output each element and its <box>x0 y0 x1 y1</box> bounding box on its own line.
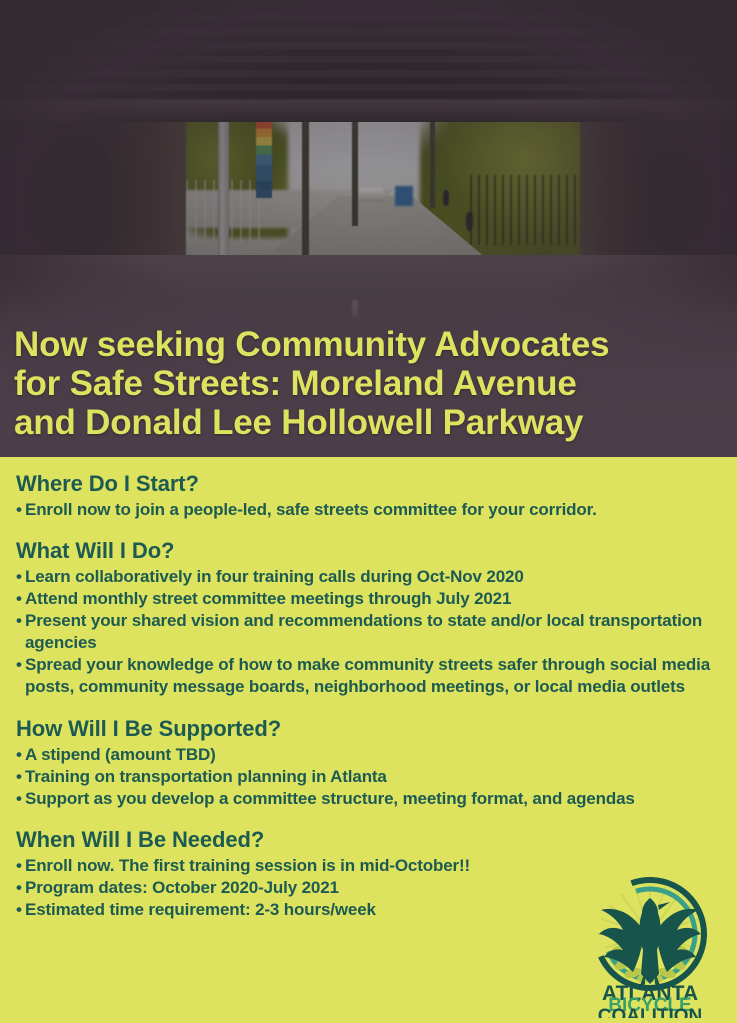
list-item: Present your shared vision and recommend… <box>16 610 716 654</box>
list-item: Learn collaboratively in four training c… <box>16 566 716 588</box>
list-item: Support as you develop a committee struc… <box>16 788 716 810</box>
section-heading: When Will I Be Needed? <box>16 827 716 853</box>
list-item: Attend monthly street committee meetings… <box>16 588 716 610</box>
headline-line-3: and Donald Lee Hollowell Parkway <box>14 404 727 443</box>
headline-line-2: for Safe Streets: Moreland Avenue <box>14 365 727 404</box>
section-heading: How Will I Be Supported? <box>16 716 716 742</box>
headline-line-1: Now seeking Community Advocates <box>14 326 727 365</box>
section-bullet-list: Enroll now to join a people-led, safe st… <box>16 499 716 521</box>
list-item: A stipend (amount TBD) <box>16 744 716 766</box>
list-item: Spread your knowledge of how to make com… <box>16 654 716 698</box>
hero-photo-section: Now seeking Community Advocates for Safe… <box>0 0 737 457</box>
poster-headline: Now seeking Community Advocates for Safe… <box>14 326 727 443</box>
list-item: Enroll now to join a people-led, safe st… <box>16 499 716 521</box>
poster-content: Where Do I Start? Enroll now to join a p… <box>16 471 716 921</box>
section-bullet-list: Learn collaboratively in four training c… <box>16 566 716 699</box>
section-how-will-i-be-supported: How Will I Be Supported? A stipend (amou… <box>16 716 716 810</box>
list-item: Training on transportation planning in A… <box>16 766 716 788</box>
section-heading: What Will I Do? <box>16 538 716 564</box>
logo-text-coalition: COALITION <box>598 1006 703 1018</box>
section-bullet-list: A stipend (amount TBD) Training on trans… <box>16 744 716 810</box>
section-heading: Where Do I Start? <box>16 471 716 497</box>
section-what-will-i-do: What Will I Do? Learn collaboratively in… <box>16 538 716 699</box>
section-where-do-i-start: Where Do I Start? Enroll now to join a p… <box>16 471 716 521</box>
atlanta-bicycle-coalition-logo: ATLANTA BICYCLE COALITION <box>575 872 725 1018</box>
poster: Now seeking Community Advocates for Safe… <box>0 0 737 1023</box>
